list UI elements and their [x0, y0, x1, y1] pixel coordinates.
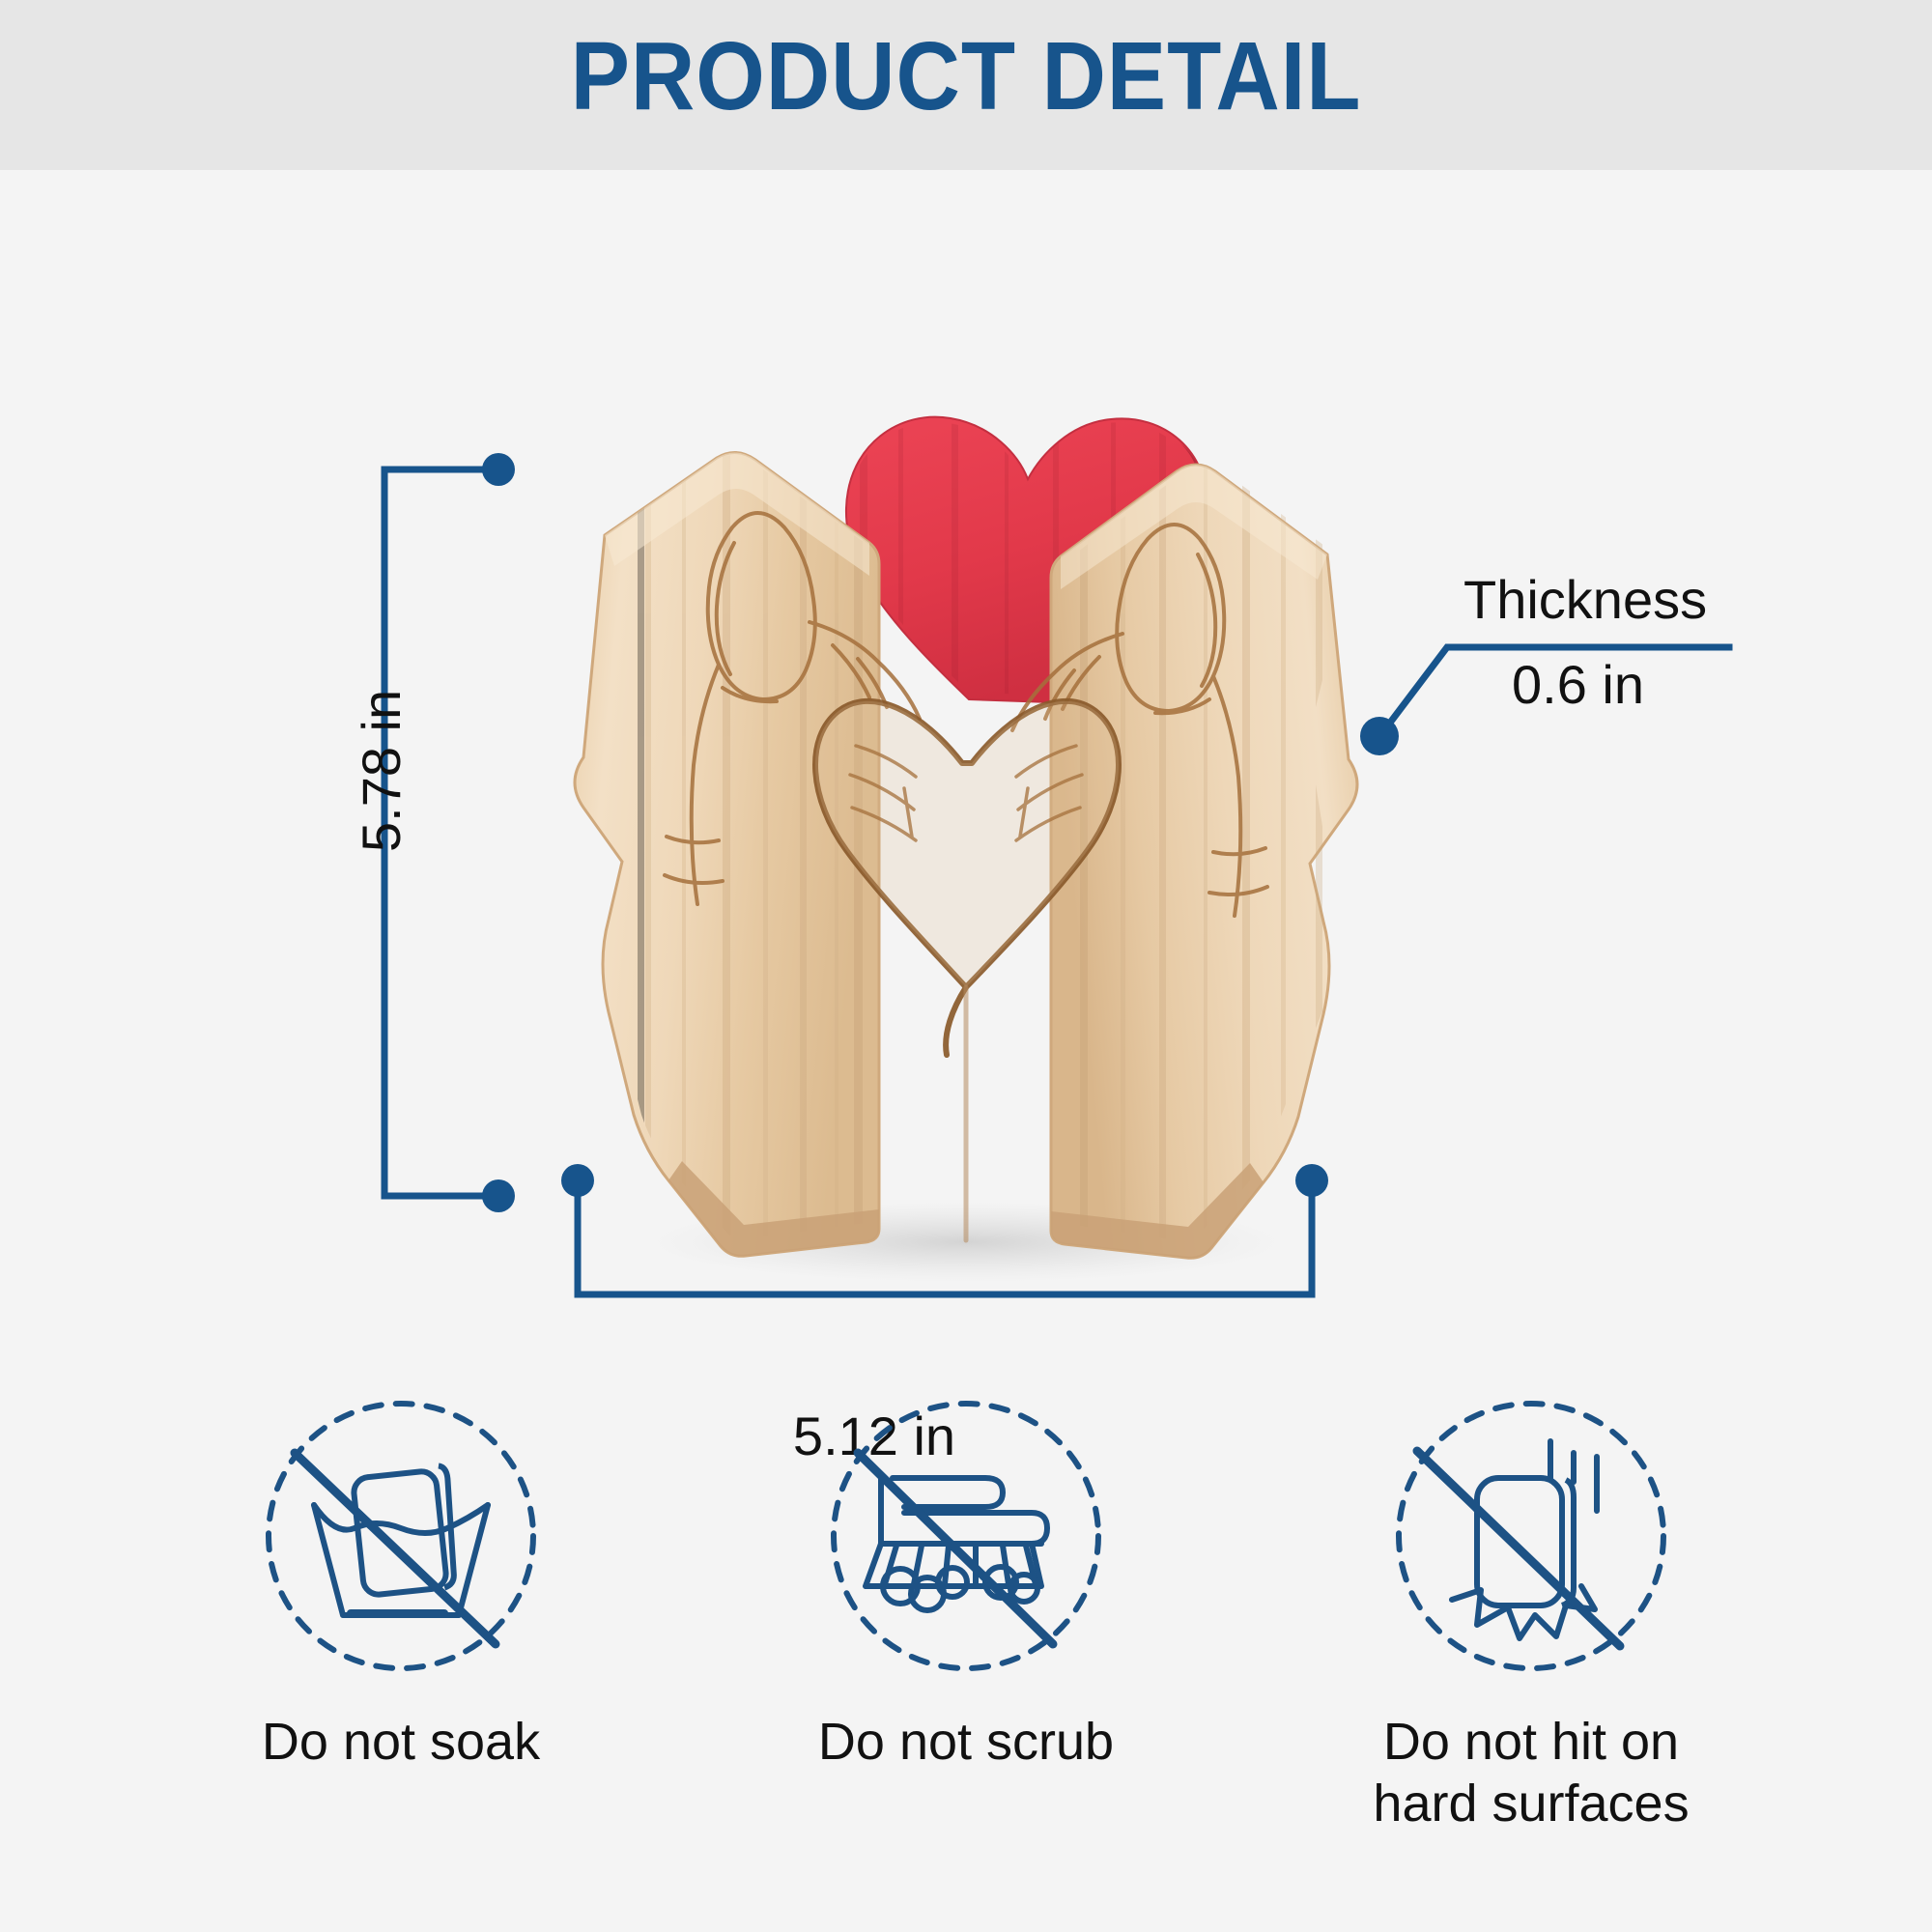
care-instructions-row: Do not soak — [0, 1381, 1932, 1834]
care-item-no-scrub: Do not scrub — [753, 1381, 1179, 1834]
care-item-no-soak: Do not soak — [188, 1381, 613, 1834]
thickness-title: Thickness — [1463, 568, 1707, 631]
product-detail-page: PRODUCT DETAIL — [0, 0, 1932, 1932]
no-soak-icon — [246, 1381, 555, 1690]
care-item-no-hit: Do not hit on hard surfaces — [1319, 1381, 1744, 1834]
care-caption-no-hit: Do not hit on hard surfaces — [1373, 1712, 1689, 1834]
product-stage: 5.78 in 5.12 in Thickness 0.6 in — [0, 170, 1932, 1329]
dashed-ring — [1399, 1404, 1663, 1668]
width-dimension-line — [578, 1186, 1312, 1294]
no-scrub-icon — [811, 1381, 1121, 1690]
page-title: PRODUCT DETAIL — [77, 21, 1855, 132]
care-caption-no-scrub: Do not scrub — [818, 1712, 1114, 1774]
dashed-ring — [269, 1404, 533, 1668]
thickness-value-label: 0.6 in — [1512, 653, 1644, 716]
dimension-endpoint-dots — [482, 453, 1399, 1212]
dashed-ring — [834, 1404, 1098, 1668]
height-dimension-label: 5.78 in — [350, 690, 412, 852]
care-caption-no-soak: Do not soak — [262, 1712, 540, 1774]
dimension-lines — [0, 170, 1932, 1329]
no-hit-hard-surface-icon — [1377, 1381, 1686, 1690]
